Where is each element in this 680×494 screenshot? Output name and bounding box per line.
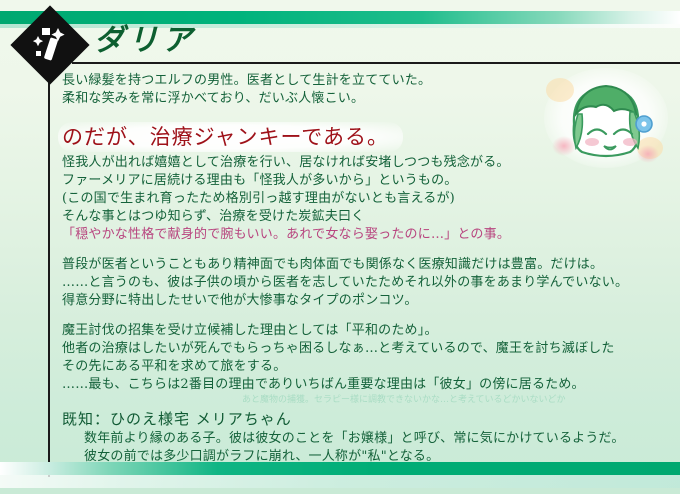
- profile-quote-line: 「穏やかな性格で献身的で腕もいい。あれで女なら娶ったのに…」との事。: [62, 226, 674, 244]
- known-relations-block: 既知：ひのえ様宅 メリアちゃん 数年前より縁のある子。彼は彼女のことを「お嬢様」…: [62, 408, 674, 466]
- paragraph-twist: のだが、治療ジャンキーである。 怪我人が出れば嬉嬉として治療を行い、居なければ安…: [62, 120, 674, 244]
- profile-body: 長い緑髪を持つエルフの男性。医者として生計を立てていた。 柔和な笑みを常に浮かべ…: [62, 72, 674, 419]
- profile-line: ……と言うのも、彼は子供の頃から医者を志していたためそれ以外の事をあまり学んでい…: [62, 274, 674, 292]
- profile-line: ファーメリアに居続ける理由も「怪我人が多いから」というもの。: [62, 172, 674, 190]
- known-relations-line: 数年前より縁のある子。彼は彼女のことを「お嬢様」と呼び、常に気にかけているようだ…: [62, 430, 674, 448]
- bottom-accent-bar: [0, 462, 680, 475]
- paragraph-intro: 長い緑髪を持つエルフの男性。医者として生計を立てていた。 柔和な笑みを常に浮かべ…: [62, 72, 674, 108]
- paragraph-knowledge: 普段が医者ということもあり精神面でも肉体面でも関係なく医療知識だけは豊富。だけは…: [62, 256, 674, 310]
- sparkle-i-diamond-icon: [14, 9, 86, 81]
- profile-line: 柔和な笑みを常に浮かべており、だいぶ人懐こい。: [62, 90, 674, 108]
- highlight-statement: のだが、治療ジャンキーである。: [58, 122, 403, 152]
- left-spine-line: [48, 62, 50, 477]
- profile-line: その先にある平和を求めて旅をする。: [62, 358, 674, 376]
- profile-line: ……最も、こちらは2番目の理由でありいちばん重要な理由は「彼女」の傍に居るため。: [62, 376, 674, 394]
- profile-faint-note: あと魔物の捕獲。セラピー様に調教できないかな…と考えているどかいないどか: [62, 394, 674, 407]
- sparkle-i-glyph: [14, 9, 86, 81]
- profile-line: 長い緑髪を持つエルフの男性。医者として生計を立てていた。: [62, 72, 674, 90]
- profile-line: 他者の治療はしたいが死んでもらっちゃ困るしなぁ…と考えているので、魔王を討ち滅ぼ…: [62, 340, 674, 358]
- profile-line: (この国で生まれ育ったため格別引っ越す理由がないとも言えるが): [62, 190, 674, 208]
- profile-line: 普段が医者ということもあり精神面でも肉体面でも関係なく医療知識だけは豊富。だけは…: [62, 256, 674, 274]
- page-title: ダリア: [94, 15, 196, 59]
- profile-line: そんな事とはつゆ知らず、治療を受けた炭鉱夫曰く: [62, 208, 674, 226]
- profile-line: 魔王討伐の招集を受け立候補した理由としては「平和のため」。: [62, 322, 674, 340]
- profile-line: 得意分野に特出したせいで他が大惨事なタイプのポンコツ。: [62, 292, 674, 310]
- profile-line: 怪我人が出れば嬉嬉として治療を行い、居なければ安堵しつつも残念がる。: [62, 154, 674, 172]
- character-profile-card: ダリア 長い緑髪を持つ: [0, 0, 680, 494]
- paragraph-motivation: 魔王討伐の招集を受け立候補した理由としては「平和のため」。 他者の治療はしたいが…: [62, 322, 674, 407]
- bottom-accent-bar-secondary: [0, 475, 680, 488]
- known-relations-heading: 既知：ひのえ様宅 メリアちゃん: [62, 408, 674, 430]
